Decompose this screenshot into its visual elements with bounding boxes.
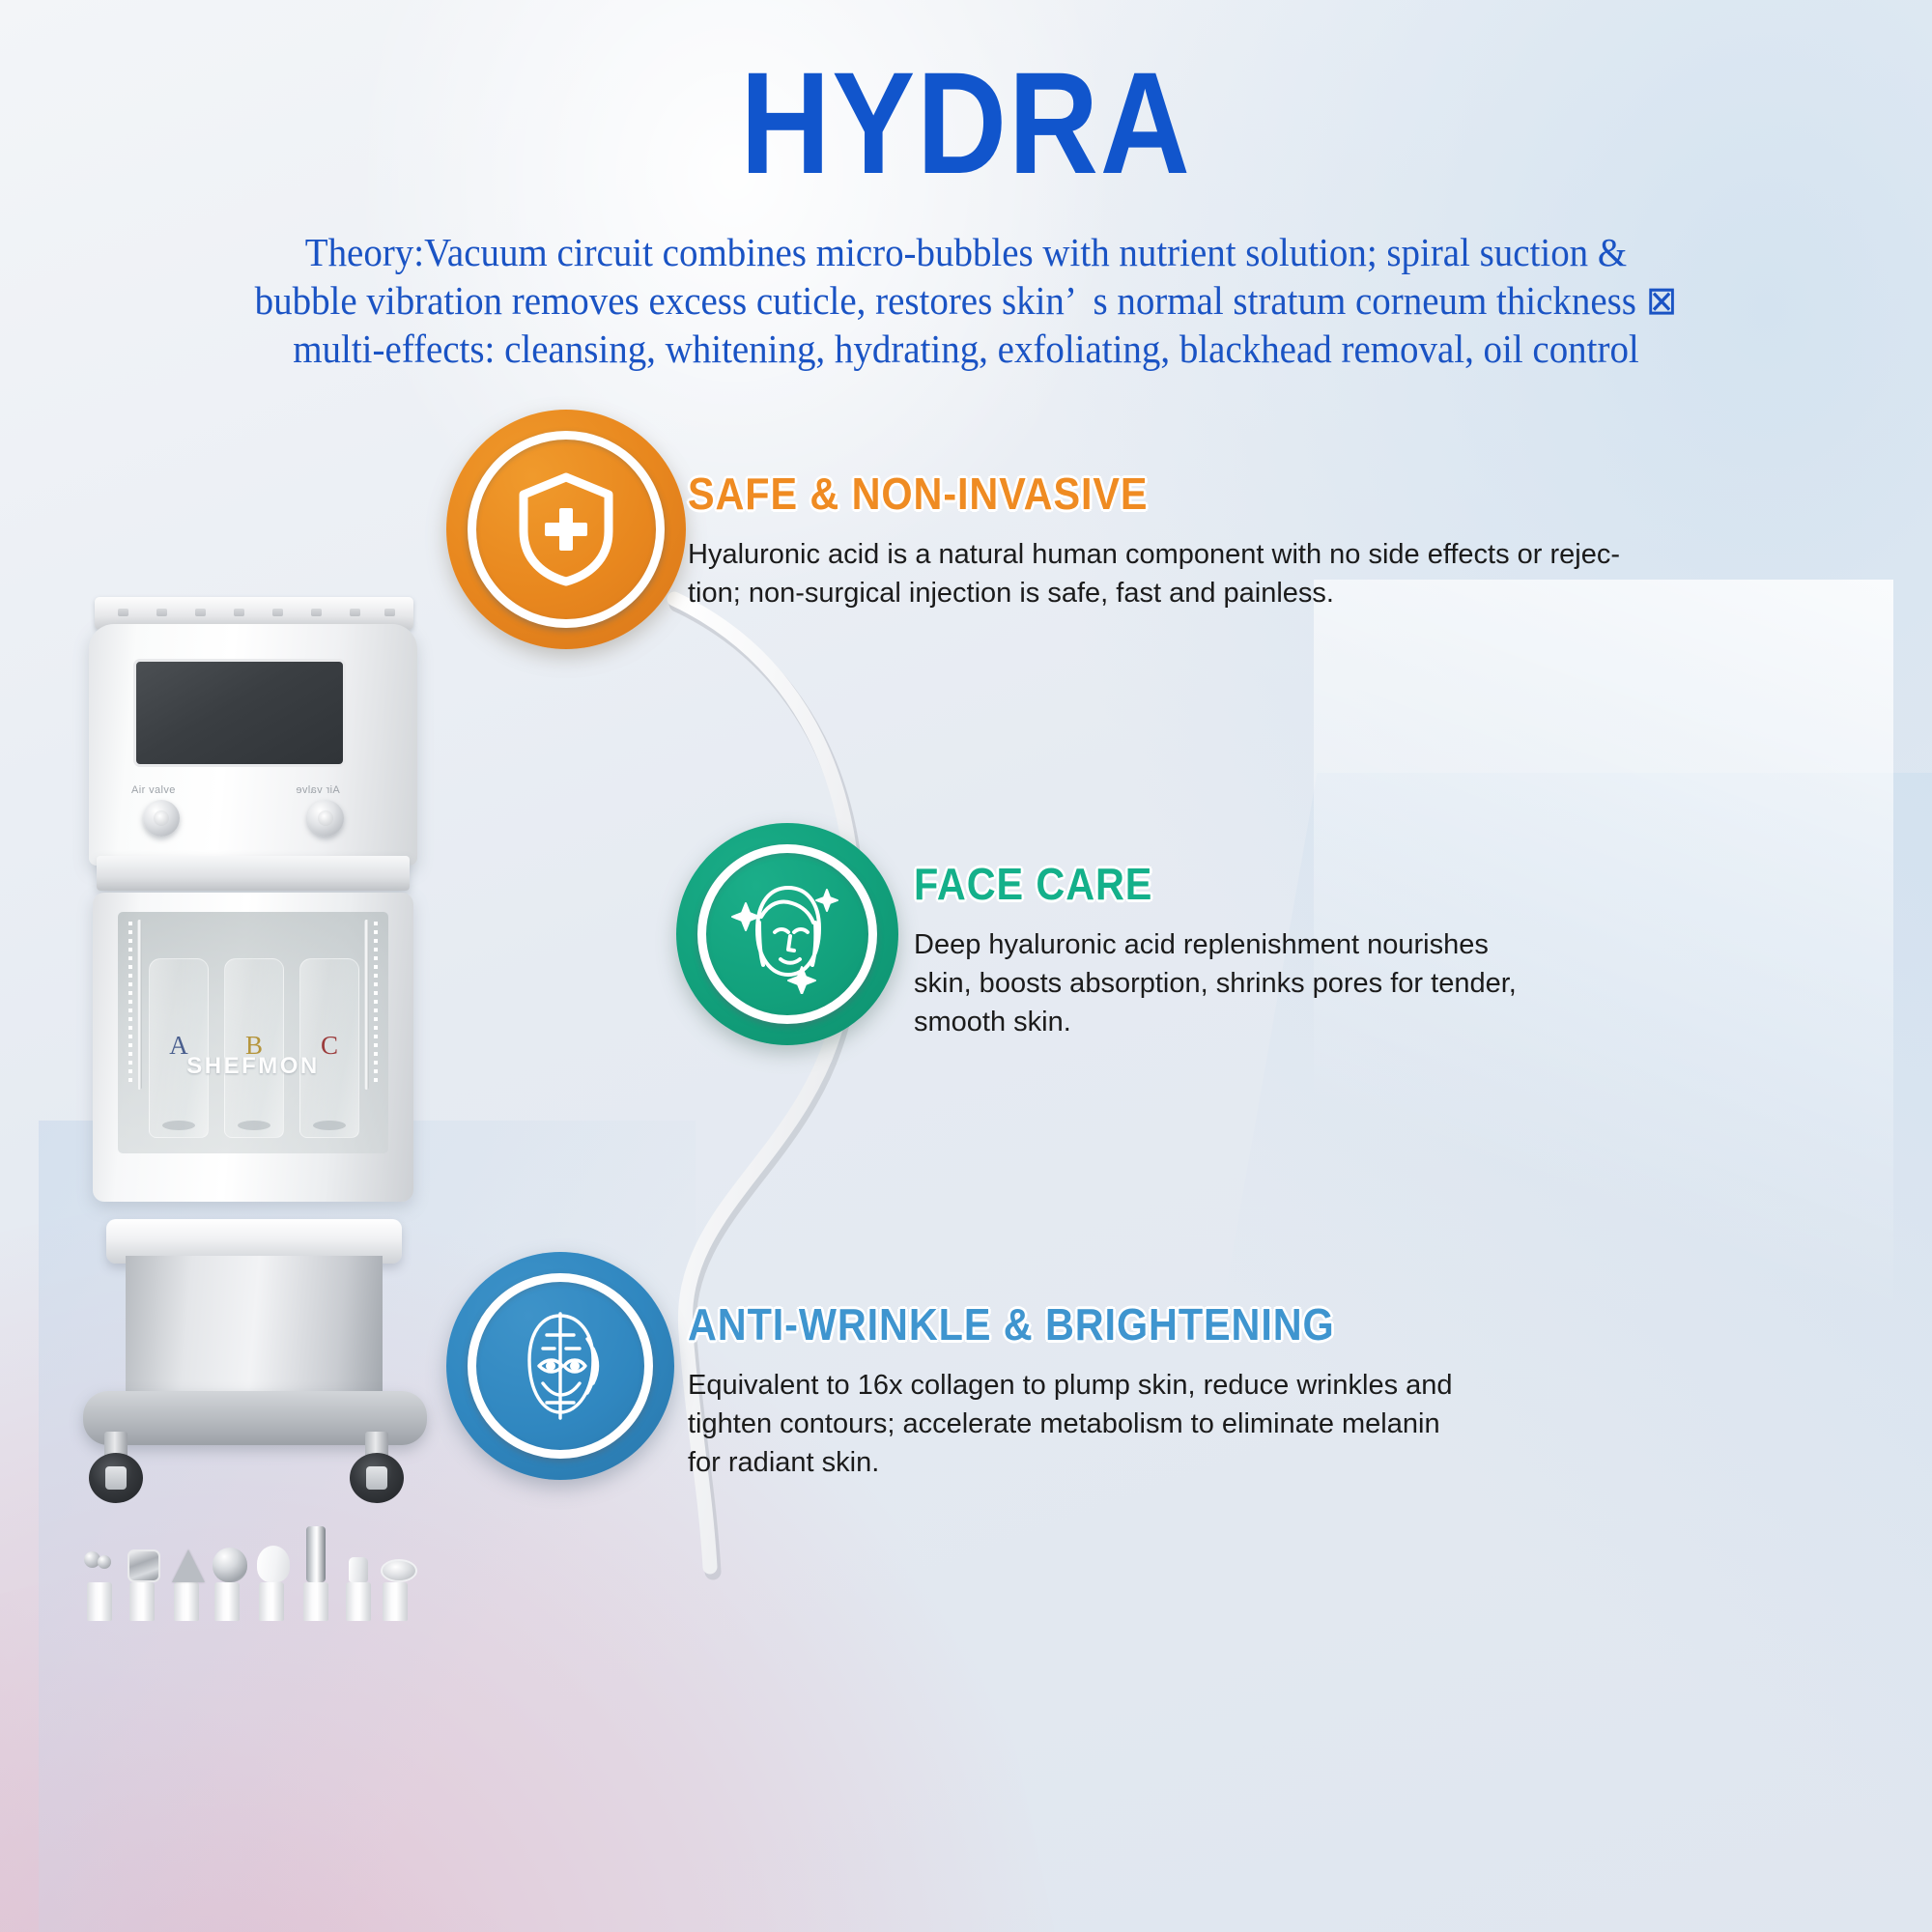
tool-stem xyxy=(129,1582,155,1621)
feature-body-line: Equivalent to 16x collagen to plump skin… xyxy=(688,1366,1519,1405)
badge-face-care[interactable] xyxy=(676,823,898,1045)
caster-wheel-right xyxy=(350,1432,404,1505)
tool-stem xyxy=(87,1582,112,1621)
feature-body-line: for radiant skin. xyxy=(688,1443,1519,1482)
handpiece-tool-4 xyxy=(213,1548,241,1621)
feature-body-line: tighten contours; accelerate metabolism … xyxy=(688,1405,1519,1443)
ball-tip-icon xyxy=(213,1548,247,1582)
badge-safe-non-invasive[interactable] xyxy=(446,410,686,649)
caster-wheel-left xyxy=(89,1432,143,1505)
header: HYDRA Theory:Vacuum circuit combines mic… xyxy=(0,0,1932,373)
device-bottle-compartment: A B C SHEFMON xyxy=(93,893,413,1202)
bottle-b: B xyxy=(224,958,284,1138)
handpiece-tool-5 xyxy=(257,1546,286,1621)
feature-anti-wrinkle-brightening: ANTI-WRINKLE & BRIGHTENING Equivalent to… xyxy=(688,1298,1519,1482)
cone-tip-icon xyxy=(172,1549,205,1582)
small-tip-icon xyxy=(349,1557,368,1582)
air-valve-knob-left[interactable] xyxy=(143,800,180,837)
device-column xyxy=(126,1256,383,1401)
tool-stem xyxy=(303,1582,328,1621)
white-ball-tip-icon xyxy=(257,1546,290,1582)
tool-stem xyxy=(383,1582,408,1621)
badge-anti-wrinkle-brightening[interactable] xyxy=(446,1252,674,1480)
device-upper-body: Air valve Air valve xyxy=(89,624,417,866)
feature-body: Hyaluronic acid is a natural human compo… xyxy=(688,535,1509,612)
bottle-c: C xyxy=(299,958,359,1138)
theory-line-2: bubble vibration removes excess cuticle,… xyxy=(48,276,1884,325)
feature-body-line: tion; non-surgical injection is safe, fa… xyxy=(688,574,1509,612)
feature-heading: ANTI-WRINKLE & BRIGHTENING xyxy=(688,1298,1435,1350)
bottle-chamber: A B C SHEFMON xyxy=(118,912,388,1153)
feature-heading: FACE CARE xyxy=(914,858,1470,910)
tool-stem xyxy=(259,1582,284,1621)
connector-curve xyxy=(541,541,1082,1662)
device-photo: Air valve Air valve A B C SHEFMON xyxy=(68,483,473,1768)
feature-body-line: Hyaluronic acid is a natural human compo… xyxy=(688,535,1509,574)
handpiece-tool-7 xyxy=(344,1557,373,1621)
handpiece-tool-3 xyxy=(172,1549,201,1621)
feature-body-line: skin, boosts absorption, shrinks pores f… xyxy=(914,964,1532,1003)
roller-tip-icon xyxy=(85,1549,114,1582)
bottle-a: A xyxy=(149,958,209,1138)
theory-line-3: multi-effects: cleansing, whitening, hyd… xyxy=(48,325,1884,373)
knob-label-left: Air valve xyxy=(131,784,176,796)
handpiece-tool-6 xyxy=(301,1526,330,1621)
face-sparkle-icon xyxy=(730,874,844,994)
feature-body-line: Deep hyaluronic acid replenishment nouri… xyxy=(914,925,1532,964)
device-display-screen xyxy=(133,659,346,767)
feature-heading: SAFE & NON-INVASIVE xyxy=(688,468,1427,520)
handpiece-tool-2 xyxy=(128,1549,156,1621)
shield-plus-icon xyxy=(516,471,616,587)
feature-safe-non-invasive: SAFE & NON-INVASIVE Hyaluronic acid is a… xyxy=(688,468,1509,612)
feature-body-line: smooth skin. xyxy=(914,1003,1532,1041)
knob-label-right: Air valve xyxy=(296,784,340,796)
feature-face-care: FACE CARE Deep hyaluronic acid replenish… xyxy=(914,858,1532,1041)
handpiece-tool-1 xyxy=(85,1549,114,1621)
air-valve-knob-right[interactable] xyxy=(307,800,344,837)
theory-line-1: Theory:Vacuum circuit combines micro-bub… xyxy=(48,228,1884,276)
page-title: HYDRA xyxy=(135,50,1797,195)
feature-body: Deep hyaluronic acid replenishment nouri… xyxy=(914,925,1532,1041)
handpiece-tool-8 xyxy=(381,1559,410,1621)
cup-tip-icon xyxy=(381,1559,417,1582)
tool-stem xyxy=(214,1582,240,1621)
face-analysis-icon xyxy=(504,1306,616,1426)
tool-stem xyxy=(346,1582,371,1621)
device-shelf xyxy=(97,856,410,891)
disc-tip-icon xyxy=(128,1549,160,1582)
feature-body: Equivalent to 16x collagen to plump skin… xyxy=(688,1366,1519,1482)
tool-stem xyxy=(174,1582,199,1621)
device-brand-logo: SHEFMON xyxy=(118,1053,388,1080)
tall-tip-icon xyxy=(306,1526,326,1582)
theory-paragraph: Theory:Vacuum circuit combines micro-bub… xyxy=(48,228,1884,373)
